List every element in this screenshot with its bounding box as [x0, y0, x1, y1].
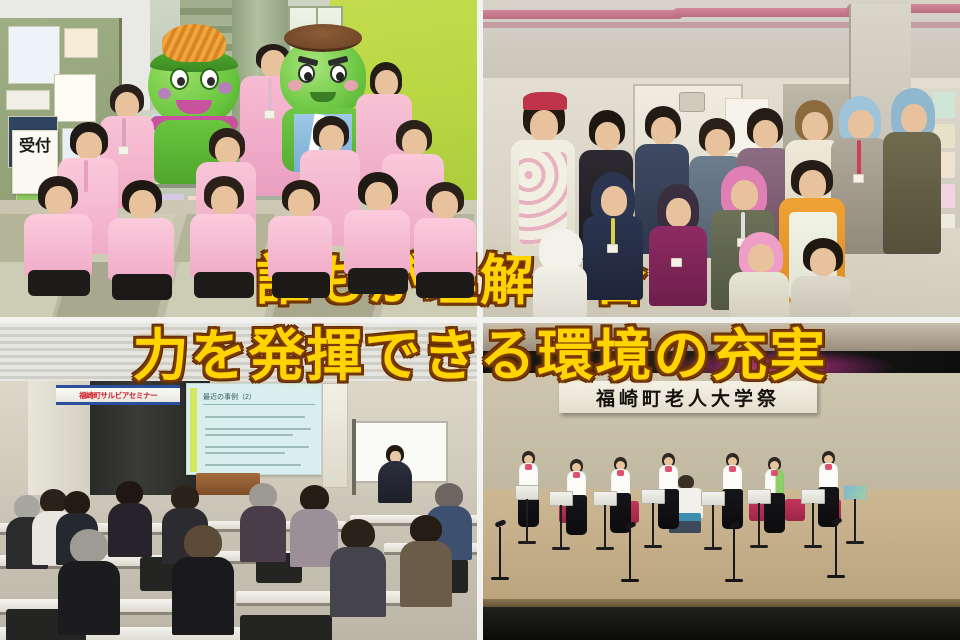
poster [6, 90, 50, 110]
photo-panel-senior-college-festival: 福崎町老人大学祭 [483, 323, 960, 640]
person [533, 228, 589, 317]
stage-banner: 福崎町老人大学祭 [559, 381, 817, 413]
photo-panel-salvia-seminar: 福崎町サルビアセミナー 最近の事例（2） [0, 323, 477, 640]
hall-ceiling [0, 323, 477, 385]
projection-screen: 最近の事例（2） [186, 383, 322, 475]
stage-apron [483, 607, 960, 640]
hanging-scroll-sign [322, 383, 348, 488]
person [414, 182, 477, 292]
person [729, 232, 791, 317]
white-headscarf [539, 228, 583, 270]
person [583, 172, 645, 302]
reception-sign-text: 受付 [13, 131, 57, 157]
poster [8, 26, 60, 84]
seminar-banner-text: 福崎町サルビアセミナー [79, 390, 157, 400]
presenter [378, 445, 412, 503]
attendee [330, 519, 386, 615]
slide-title: 最近の事例（2） [203, 392, 256, 402]
horizontal-divider [0, 317, 960, 323]
attendee [58, 529, 120, 631]
table [236, 591, 416, 606]
whiteboard-stand [352, 419, 356, 507]
attendee [240, 483, 286, 559]
attendee [172, 525, 234, 631]
ceiling-pipe [483, 10, 683, 19]
person [344, 172, 414, 290]
slide-accent-bar [190, 388, 197, 472]
person [883, 88, 943, 256]
poster [64, 28, 98, 58]
person [190, 176, 260, 292]
photo-panel-reception-lobby: 受付 [0, 0, 477, 317]
stage-banner-text: 福崎町老人大学祭 [596, 384, 780, 411]
seminar-banner: 福崎町サルビアセミナー [56, 385, 180, 405]
person [22, 176, 94, 288]
poster [54, 74, 96, 122]
ceiling-pipe [673, 8, 863, 17]
person [108, 180, 178, 292]
chair [240, 615, 332, 640]
person [791, 238, 853, 317]
person [649, 184, 709, 306]
red-beret [523, 92, 567, 110]
attendee [400, 515, 452, 605]
person [268, 180, 336, 292]
slide-rule [203, 404, 315, 405]
photo-panel-international-exchange [483, 0, 960, 317]
collage-canvas: 受付 [0, 0, 960, 640]
